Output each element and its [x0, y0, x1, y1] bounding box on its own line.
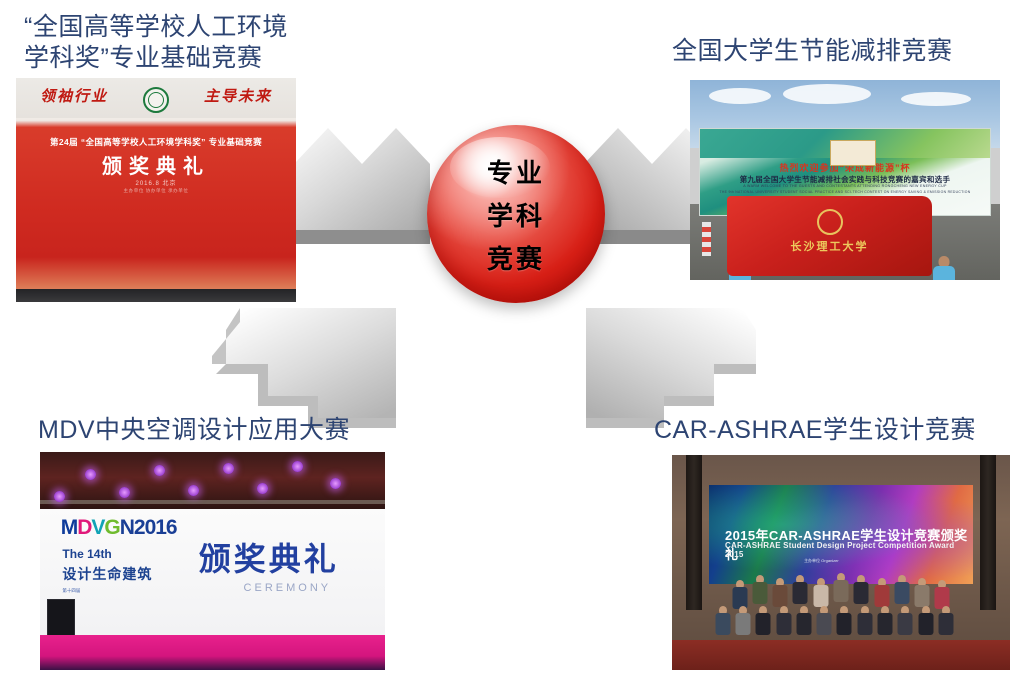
- center-sphere-label: 专业 学科 竞赛: [427, 125, 605, 303]
- arrow-pointing-bottom-left: [212, 300, 417, 432]
- photo2-university-flag: 长沙理工大学: [727, 196, 932, 276]
- photo3-subtitle-en: The 14th: [62, 547, 111, 561]
- photo4-screen-line2: CAR-ASHRAE Student Design Project Compet…: [725, 541, 973, 559]
- photo1-headline-small: 第24届 “全国高等学校人工环境学科奖” 专业基础竞赛: [16, 136, 296, 148]
- photo2-banner-line3: A WARM WELCOME TO THE GUESTS AND CONTEST…: [700, 184, 989, 188]
- caption-bottom-left: MDV中央空调设计应用大赛: [38, 415, 350, 446]
- photo1-people-group: [16, 159, 296, 289]
- photo2-certificate: [830, 140, 876, 166]
- center-sphere-badge[interactable]: 专业 学科 竞赛: [427, 125, 605, 303]
- photo2-flag-emblem-icon: [817, 209, 843, 235]
- photo-award-ceremony: 领袖行业主导未来 第24届 “全国高等学校人工环境学科奖” 专业基础竞赛 颁奖典…: [16, 78, 296, 302]
- center-label-line-2: 学科: [487, 196, 545, 233]
- photo3-subtitle-cn: 设计生命建筑: [62, 564, 152, 584]
- photo3-speaker: [47, 599, 75, 637]
- arrow-pointing-top-left: [288, 112, 436, 260]
- photo-energy-saving-contest: 热烈欢迎参加“荣成新能源”杯 第九届全国大学生节能减排社会实践与科技竞赛的嘉宾和…: [690, 80, 1000, 280]
- photo2-traffic-cone: [702, 222, 711, 256]
- photo4-screen-line3: 主办单位 Organizer: [804, 558, 839, 564]
- caption-top-right: 全国大学生节能减排竞赛: [672, 36, 953, 67]
- caption-bottom-right: CAR-ASHRAE学生设计竞赛: [654, 415, 976, 446]
- photo-car-ashrae-group: 2015年CAR-ASHRAE学生设计竞赛颁奖礼 CAR-ASHRAE Stud…: [672, 455, 1010, 670]
- photo1-seal-icon: [143, 87, 169, 113]
- center-label-line-3: 竞赛: [487, 239, 545, 276]
- photo3-headline-cn: 颁奖典礼: [199, 534, 339, 580]
- photo3-headline-en: CEREMONY: [244, 582, 332, 594]
- photo3-stage-screen: MDVGN2016 The 14th 设计生命建筑 第十四届 颁奖典礼 CERE…: [40, 509, 385, 635]
- center-label-line-1: 专业: [487, 153, 545, 190]
- photo2-banner-line4: THE 9th NATIONAL UNIVERSITY STUDENT SOCI…: [700, 190, 989, 194]
- photo4-led-screen: 2015年CAR-ASHRAE学生设计竞赛颁奖礼 CAR-ASHRAE Stud…: [709, 485, 973, 584]
- photo-mdv-award-ceremony: MDVGN2016 The 14th 设计生命建筑 第十四届 颁奖典礼 CERE…: [40, 452, 385, 670]
- photo2-flag-text: 长沙理工大学: [727, 238, 932, 254]
- arrow-pointing-bottom-right: [552, 300, 770, 432]
- photo3-logo-text: MDVGN2016: [61, 516, 177, 540]
- photo3-small-cn: 第十四届: [62, 588, 80, 594]
- slide-canvas: 领袖行业主导未来 第24届 “全国高等学校人工环境学科奖” 专业基础竞赛 颁奖典…: [0, 0, 1013, 677]
- caption-top-left: “全国高等学校人工环境 学科奖”专业基础竞赛: [24, 12, 288, 74]
